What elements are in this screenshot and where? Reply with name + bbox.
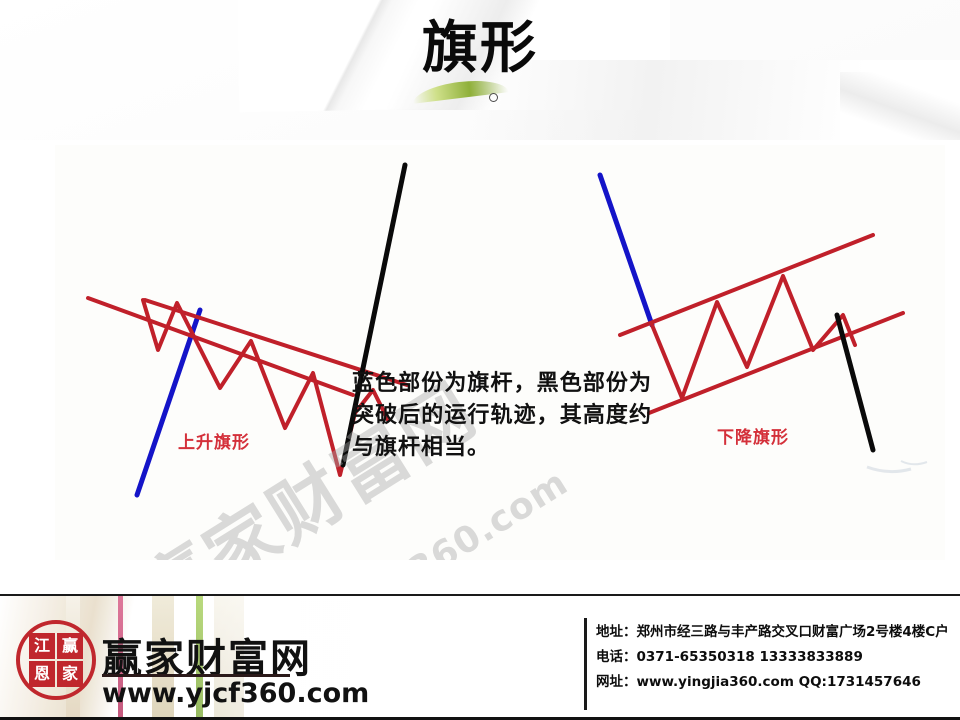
contact-phone: 电话：0371-65350318 13333833889: [596, 645, 956, 670]
figure-caption: 蓝色部份为旗杆，黑色部份为突破后的运行轨迹，其高度约与旗杆相当。: [352, 368, 652, 464]
brand-website[interactable]: www.yjcf360.com: [102, 678, 369, 709]
slide-root: 旗形: [0, 0, 960, 720]
seal-character-grid: 江 赢 恩 家: [29, 633, 83, 687]
contact-website: 网址：www.yingjia360.com QQ:1731457646: [596, 670, 956, 695]
seal-char: 江: [29, 633, 55, 659]
bullish-flag-label: 上升旗形: [178, 428, 250, 453]
contact-block: 地址：郑州市经三路与丰产路交叉口财富广场2号楼4楼C户 电话：0371-6535…: [596, 620, 956, 695]
seal-char: 家: [57, 661, 83, 687]
bearish-upper-trendline: [620, 235, 873, 335]
seal-char: 恩: [29, 661, 55, 687]
header-corner-fold: [840, 72, 960, 140]
contact-address: 地址：郑州市经三路与丰产路交叉口财富广场2号楼4楼C户: [596, 620, 956, 645]
seal-char: 赢: [57, 633, 83, 659]
circle-dot-icon: [489, 93, 498, 102]
contact-divider: [584, 618, 587, 710]
bearish-flag-label: 下降旗形: [717, 423, 789, 448]
bearish-lower-trendline: [649, 313, 903, 413]
flag-pattern-figure: 赢家财富网 www.yingjia360.com: [55, 145, 945, 560]
scan-artifact-group: [867, 461, 927, 472]
bearish-price-zigzag: [652, 276, 855, 398]
company-seal-icon: 江 赢 恩 家: [16, 620, 100, 704]
brand-underline: [102, 674, 290, 677]
bullish-flagpole-line: [137, 310, 200, 495]
flag-pattern-svg: [55, 145, 945, 560]
bearish-flagpole-line: [600, 175, 652, 325]
bearish-breakout-line: [837, 315, 873, 450]
page-title: 旗形: [0, 18, 960, 80]
